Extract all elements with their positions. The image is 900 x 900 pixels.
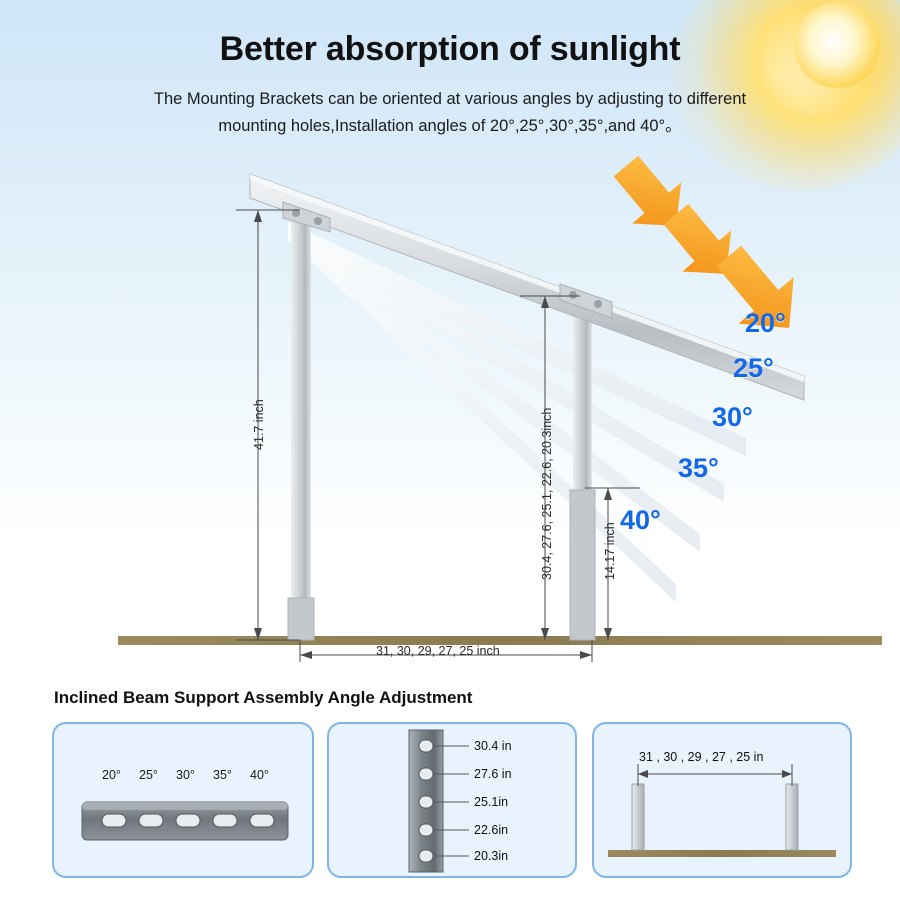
page-root: Better absorption of sunlight The Mounti… <box>0 0 900 900</box>
page-title: Better absorption of sunlight <box>0 30 900 69</box>
front-post <box>288 220 314 640</box>
card-angle-hole-bracket: 20° 25° 30° 35° 40° <box>52 722 314 878</box>
main-diagram: 20° 25° 30° 35° 40° 41.7 inch 30.4, 27.6… <box>0 150 900 680</box>
card2-label-4: 22.6in <box>474 823 508 837</box>
card1-label-35: 35° <box>213 768 232 782</box>
dim-rear-post-min: 14.17 inch <box>603 522 617 580</box>
card2-svg <box>329 724 575 876</box>
subtitle-line-2: mounting holes,Installation angles of 20… <box>78 113 822 140</box>
dim-rear-post-heights: 30.4, 27.6, 25.1, 22.6, 20.3inch <box>540 408 554 580</box>
subtitle-line-1: The Mounting Brackets can be oriented at… <box>78 86 822 113</box>
angle-label-40: 40° <box>620 505 661 536</box>
angle-label-35: 35° <box>678 453 719 484</box>
card3-dimension: 31 , 30 , 29 , 27 , 25 in <box>639 750 763 764</box>
card3-svg <box>594 724 850 876</box>
section-title: Inclined Beam Support Assembly Angle Adj… <box>54 688 472 708</box>
dim-front-post-height: 41.7 inch <box>252 399 266 450</box>
card1-label-40: 40° <box>250 768 269 782</box>
card2-label-2: 27.6 in <box>474 767 512 781</box>
card1-label-25: 25° <box>139 768 158 782</box>
card-base-span: 31 , 30 , 29 , 27 , 25 in <box>592 722 852 878</box>
rear-post <box>570 296 595 640</box>
angle-label-30: 30° <box>712 402 753 433</box>
ground-line <box>118 636 882 645</box>
angle-label-20: 20° <box>745 308 786 339</box>
page-subtitle: The Mounting Brackets can be oriented at… <box>78 86 822 139</box>
card2-label-5: 20.3in <box>474 849 508 863</box>
card2-label-1: 30.4 in <box>474 739 512 753</box>
card1-label-30: 30° <box>176 768 195 782</box>
dim-base-span: 31, 30, 29, 27, 25 inch <box>376 644 500 658</box>
card1-label-20: 20° <box>102 768 121 782</box>
card-rear-post-holes: 30.4 in 27.6 in 25.1in 22.6in 20.3in <box>327 722 577 878</box>
main-diagram-svg <box>0 150 900 680</box>
card1-svg <box>54 724 312 876</box>
card2-label-3: 25.1in <box>474 795 508 809</box>
angle-label-25: 25° <box>733 353 774 384</box>
